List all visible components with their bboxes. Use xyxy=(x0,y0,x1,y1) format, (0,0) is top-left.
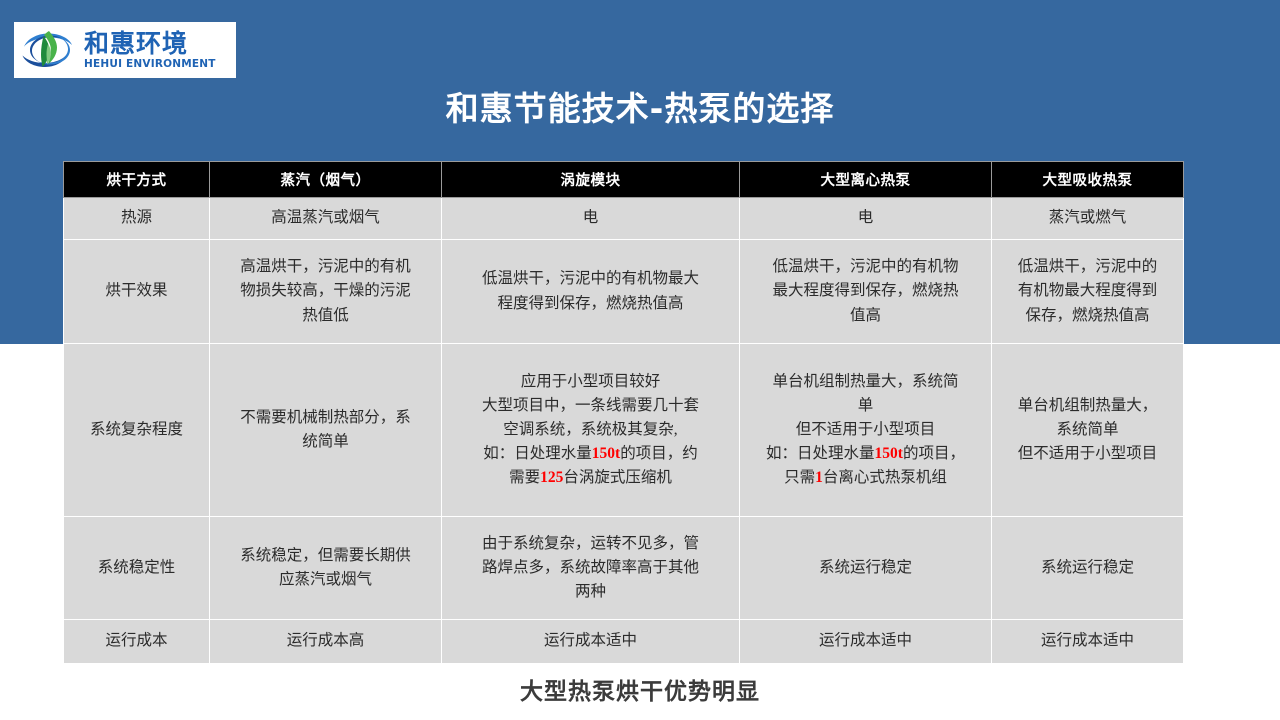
table-cell: 系统运行稳定 xyxy=(740,517,992,620)
column-header-method: 烘干方式 xyxy=(64,162,210,198)
comparison-table: 烘干方式 蒸汽（烟气） 涡旋模块 大型离心热泵 大型吸收热泵 热源高温蒸汽或烟气… xyxy=(63,161,1184,664)
table-header-row: 烘干方式 蒸汽（烟气） 涡旋模块 大型离心热泵 大型吸收热泵 xyxy=(64,162,1184,198)
cell-text: 单台机组制热量大，系统简单但不适用于小型项目如：日处理水量150t的项目，只需1… xyxy=(747,370,984,490)
cell-text: 运行成本高 xyxy=(217,629,434,653)
row-header-cell: 烘干效果 xyxy=(64,240,210,344)
footer-conclusion: 大型热泵烘干优势明显 xyxy=(0,672,1280,706)
row-header-cell: 运行成本 xyxy=(64,620,210,664)
cell-text: 系统运行稳定 xyxy=(999,556,1176,580)
hehui-logo-icon xyxy=(20,27,80,73)
cell-text: 应用于小型项目较好大型项目中，一条线需要几十套空调系统，系统极其复杂,如：日处理… xyxy=(449,370,732,490)
cell-text: 运行成本适中 xyxy=(747,629,984,653)
table-row: 烘干效果高温烘干，污泥中的有机物损失较高，干燥的污泥热值低低温烘干，污泥中的有机… xyxy=(64,240,1184,344)
cell-text: 高温蒸汽或烟气 xyxy=(217,206,434,230)
logo-chinese-name: 和惠环境 xyxy=(84,31,216,56)
table-cell: 不需要机械制热部分，系统简单 xyxy=(210,344,442,517)
comparison-table-wrapper: 烘干方式 蒸汽（烟气） 涡旋模块 大型离心热泵 大型吸收热泵 热源高温蒸汽或烟气… xyxy=(63,161,1183,664)
cell-text: 电 xyxy=(747,206,984,230)
table-cell: 由于系统复杂，运转不见多，管路焊点多，系统故障率高于其他两种 xyxy=(442,517,740,620)
row-header-cell: 系统复杂程度 xyxy=(64,344,210,517)
table-cell: 应用于小型项目较好大型项目中，一条线需要几十套空调系统，系统极其复杂,如：日处理… xyxy=(442,344,740,517)
cell-text: 低温烘干，污泥中的有机物最大程度得到保存，燃烧热值高 xyxy=(999,255,1176,327)
table-cell: 运行成本适中 xyxy=(442,620,740,664)
column-header-centrifugal: 大型离心热泵 xyxy=(740,162,992,198)
table-head: 烘干方式 蒸汽（烟气） 涡旋模块 大型离心热泵 大型吸收热泵 xyxy=(64,162,1184,198)
column-header-absorption: 大型吸收热泵 xyxy=(992,162,1184,198)
cell-text: 运行成本适中 xyxy=(449,629,732,653)
cell-text: 蒸汽或燃气 xyxy=(999,206,1176,230)
logo-wordmark: 和惠环境 HEHUI ENVIRONMENT xyxy=(84,31,216,70)
cell-text: 电 xyxy=(449,206,732,230)
table-cell: 高温蒸汽或烟气 xyxy=(210,198,442,240)
cell-text: 系统稳定，但需要长期供应蒸汽或烟气 xyxy=(217,544,434,592)
table-cell: 系统运行稳定 xyxy=(992,517,1184,620)
table-row: 系统稳定性系统稳定，但需要长期供应蒸汽或烟气由于系统复杂，运转不见多，管路焊点多… xyxy=(64,517,1184,620)
logo-english-name: HEHUI ENVIRONMENT xyxy=(84,59,216,70)
table-row: 系统复杂程度不需要机械制热部分，系统简单应用于小型项目较好大型项目中，一条线需要… xyxy=(64,344,1184,517)
row-header-cell: 系统稳定性 xyxy=(64,517,210,620)
cell-text: 系统运行稳定 xyxy=(747,556,984,580)
company-logo: 和惠环境 HEHUI ENVIRONMENT xyxy=(14,22,236,78)
highlighted-value: 1 xyxy=(815,469,823,486)
column-header-steam: 蒸汽（烟气） xyxy=(210,162,442,198)
highlighted-value: 150t xyxy=(592,445,620,462)
table-cell: 低温烘干，污泥中的有机物最大程度得到保存，燃烧热值高 xyxy=(740,240,992,344)
table-cell: 运行成本适中 xyxy=(992,620,1184,664)
table-row: 热源高温蒸汽或烟气电电蒸汽或燃气 xyxy=(64,198,1184,240)
cell-text: 高温烘干，污泥中的有机物损失较高，干燥的污泥热值低 xyxy=(217,255,434,327)
cell-text: 单台机组制热量大，系统简单但不适用于小型项目 xyxy=(999,394,1176,466)
table-cell: 系统稳定，但需要长期供应蒸汽或烟气 xyxy=(210,517,442,620)
table-cell: 单台机组制热量大，系统简单但不适用于小型项目 xyxy=(992,344,1184,517)
slide-root: 和惠环境 HEHUI ENVIRONMENT 和惠节能技术-热泵的选择 烘干方式… xyxy=(0,0,1280,720)
highlighted-value: 150t xyxy=(875,445,903,462)
table-body: 热源高温蒸汽或烟气电电蒸汽或燃气烘干效果高温烘干，污泥中的有机物损失较高，干燥的… xyxy=(64,198,1184,664)
table-cell: 低温烘干，污泥中的有机物最大程度得到保存，燃烧热值高 xyxy=(442,240,740,344)
cell-text: 运行成本适中 xyxy=(999,629,1176,653)
table-cell: 运行成本高 xyxy=(210,620,442,664)
page-title: 和惠节能技术-热泵的选择 xyxy=(0,82,1280,130)
cell-text: 由于系统复杂，运转不见多，管路焊点多，系统故障率高于其他两种 xyxy=(449,532,732,604)
table-row: 运行成本运行成本高运行成本适中运行成本适中运行成本适中 xyxy=(64,620,1184,664)
cell-text: 低温烘干，污泥中的有机物最大程度得到保存，燃烧热值高 xyxy=(747,255,984,327)
highlighted-value: 125 xyxy=(540,469,563,486)
table-cell: 高温烘干，污泥中的有机物损失较高，干燥的污泥热值低 xyxy=(210,240,442,344)
table-cell: 运行成本适中 xyxy=(740,620,992,664)
cell-text: 不需要机械制热部分，系统简单 xyxy=(217,406,434,454)
cell-text: 低温烘干，污泥中的有机物最大程度得到保存，燃烧热值高 xyxy=(449,267,732,315)
table-cell: 电 xyxy=(740,198,992,240)
table-cell: 低温烘干，污泥中的有机物最大程度得到保存，燃烧热值高 xyxy=(992,240,1184,344)
row-header-cell: 热源 xyxy=(64,198,210,240)
column-header-scroll-module: 涡旋模块 xyxy=(442,162,740,198)
table-cell: 单台机组制热量大，系统简单但不适用于小型项目如：日处理水量150t的项目，只需1… xyxy=(740,344,992,517)
table-cell: 蒸汽或燃气 xyxy=(992,198,1184,240)
table-cell: 电 xyxy=(442,198,740,240)
